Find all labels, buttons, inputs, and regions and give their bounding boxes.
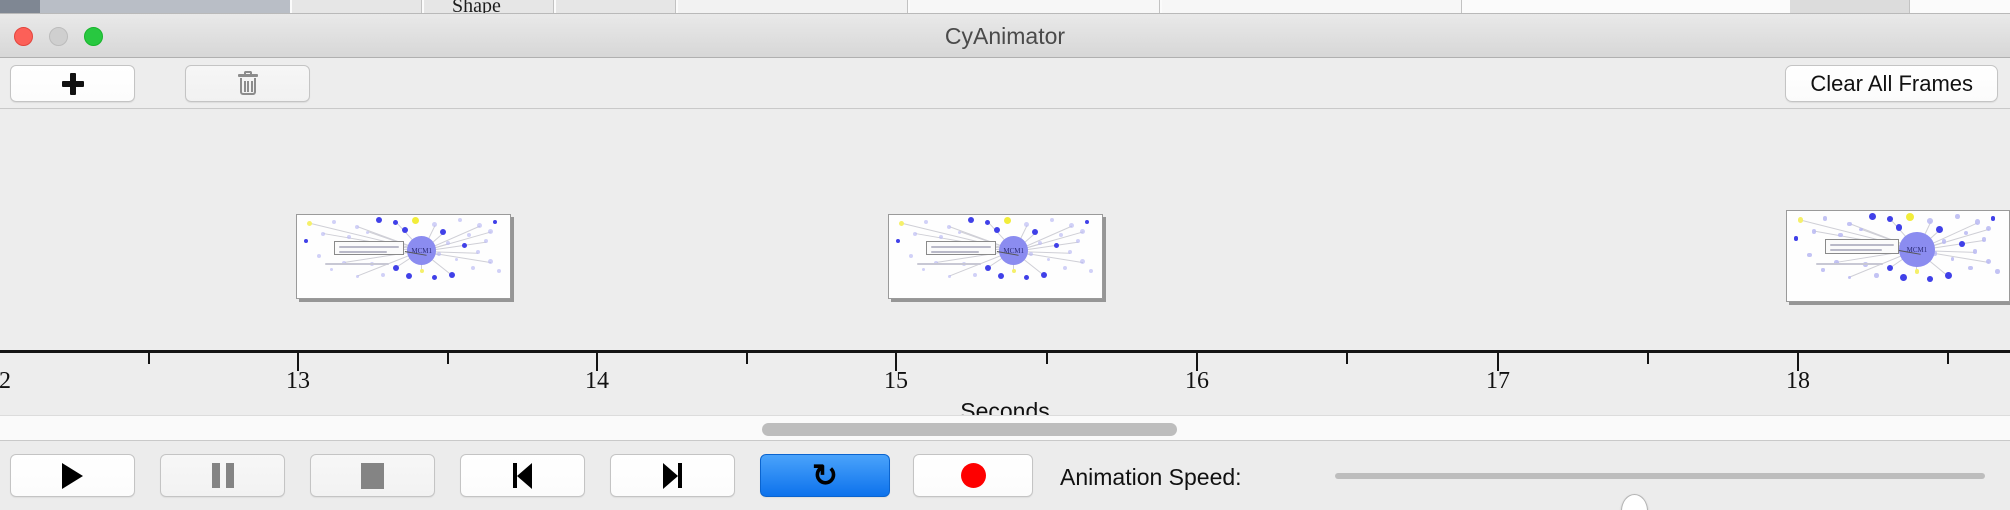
- network-node: [1089, 269, 1093, 273]
- delete-frame-button[interactable]: [185, 65, 310, 102]
- network-caption: [917, 263, 982, 265]
- timeline-tick-label: 13: [286, 368, 310, 395]
- network-node: [1959, 241, 1965, 247]
- network-node: [1032, 229, 1038, 235]
- network-node: [1004, 217, 1011, 224]
- network-node: [1012, 269, 1016, 273]
- network-node: [1906, 213, 1914, 221]
- network-node: [356, 275, 359, 278]
- network-node: [896, 239, 900, 243]
- network-node: [406, 273, 412, 279]
- loop-button[interactable]: ↻: [760, 454, 890, 497]
- network-node: [462, 243, 467, 248]
- horizontal-scrollbar[interactable]: [0, 415, 2010, 441]
- add-frame-button[interactable]: [10, 65, 135, 102]
- clear-all-frames-button[interactable]: Clear All Frames: [1785, 65, 1998, 102]
- network-node: [1995, 269, 2000, 274]
- timeline-tick-minor: [1947, 353, 1949, 364]
- network-node: [304, 239, 308, 243]
- network-node: [321, 232, 325, 236]
- network-node: [1945, 272, 1952, 279]
- title-bar: CyAnimator: [0, 14, 2010, 58]
- tooltip-text-line: [931, 251, 980, 253]
- network-node: [449, 272, 455, 278]
- network-node: [1975, 219, 1981, 225]
- network-node: [1887, 216, 1893, 222]
- skip-start-button[interactable]: [460, 454, 585, 497]
- network-preview: MCM1: [1787, 211, 2009, 301]
- timeline-axis: [0, 350, 2010, 353]
- network-node: [355, 225, 359, 229]
- network-node: [1982, 237, 1987, 242]
- timeline-tick-minor: [148, 353, 150, 364]
- network-node: [1848, 276, 1851, 279]
- network-preview: MCM1: [889, 215, 1102, 298]
- pause-icon: [212, 463, 234, 488]
- network-node: [412, 217, 419, 224]
- keyframe-thumbnail[interactable]: MCM1: [888, 214, 1103, 299]
- timeline-tick-minor: [1346, 353, 1348, 364]
- network-node: [1812, 229, 1817, 234]
- network-node: [1080, 259, 1085, 264]
- network-node: [1050, 218, 1054, 222]
- network-node: [1927, 276, 1933, 282]
- stop-icon: [361, 463, 384, 489]
- network-node: [1942, 239, 1947, 244]
- network-tooltip: [1825, 239, 1899, 255]
- pause-button[interactable]: [160, 454, 285, 497]
- network-node: [376, 217, 382, 223]
- plus-icon: [62, 73, 84, 95]
- timeline-panel[interactable]: MCM1MCM1MCM1 12131415161718 Seconds: [0, 110, 2010, 415]
- network-node: [973, 273, 977, 277]
- network-node: [1024, 275, 1029, 280]
- record-icon: [961, 463, 986, 488]
- network-node: [1807, 253, 1812, 258]
- keyframe-thumbnail[interactable]: MCM1: [296, 214, 511, 299]
- network-node: [1991, 216, 1996, 221]
- background-window-label: Shape: [452, 0, 501, 14]
- timeline-tick-minor: [746, 353, 748, 364]
- network-node: [1794, 236, 1799, 241]
- network-node: [1986, 226, 1992, 232]
- network-node: [1847, 222, 1852, 227]
- background-window-strip: Shape: [0, 0, 2010, 14]
- network-hub-node: MCM1: [999, 236, 1028, 265]
- network-node: [330, 268, 333, 271]
- network-node: [985, 265, 991, 271]
- network-node: [488, 259, 493, 264]
- timeline-tick-minor: [1647, 353, 1649, 364]
- network-node: [1085, 220, 1089, 224]
- network-node: [471, 266, 475, 270]
- background-cell: [910, 0, 1160, 14]
- network-caption: [1816, 263, 1883, 265]
- timeline-tick-label: 12: [0, 368, 11, 395]
- network-node: [1874, 273, 1879, 278]
- cyanimator-window: Shape CyAnimator Clear All Frames MCM1MC…: [0, 0, 2010, 510]
- network-node: [1968, 266, 1973, 271]
- network-node: [1821, 268, 1824, 271]
- network-node: [1951, 257, 1954, 260]
- background-cell: [1162, 0, 1462, 14]
- network-node: [1973, 249, 1978, 254]
- network-node: [381, 273, 385, 277]
- timeline-tick-minor: [447, 353, 449, 364]
- play-icon: [62, 463, 83, 489]
- network-node: [1955, 214, 1960, 219]
- network-node: [317, 254, 321, 258]
- background-toolbar-light: [40, 0, 290, 14]
- network-node: [1038, 241, 1042, 245]
- network-node: [1798, 217, 1804, 223]
- network-node: [1887, 265, 1894, 272]
- network-node: [1054, 243, 1059, 248]
- network-node: [948, 275, 951, 278]
- network-node: [913, 232, 917, 236]
- network-node: [1068, 250, 1072, 254]
- network-tooltip: [334, 241, 405, 255]
- timeline-tick-label: 16: [1185, 368, 1209, 395]
- network-node: [446, 241, 450, 245]
- record-button[interactable]: [913, 454, 1033, 497]
- network-node: [1823, 216, 1828, 221]
- network-node: [332, 220, 336, 224]
- play-button[interactable]: [10, 454, 135, 497]
- network-node: [440, 229, 446, 235]
- network-node: [1069, 223, 1074, 228]
- network-node: [947, 225, 951, 229]
- toolbar: Clear All Frames: [0, 58, 2010, 109]
- skip-back-icon: [513, 463, 532, 489]
- network-node: [455, 258, 458, 261]
- network-node: [922, 268, 925, 271]
- network-node: [1900, 274, 1907, 281]
- network-node: [939, 235, 943, 239]
- background-cell: [292, 0, 422, 14]
- timeline-tick-label: 17: [1486, 368, 1510, 395]
- network-node: [1047, 258, 1050, 261]
- network-node: [1986, 259, 1992, 265]
- network-node: [437, 252, 441, 256]
- background-cell: [678, 0, 908, 14]
- network-caption: [325, 263, 390, 265]
- timeline-tick-label: 18: [1786, 368, 1810, 395]
- network-node: [1936, 226, 1943, 233]
- skip-forward-icon: [663, 463, 682, 489]
- stop-button[interactable]: [310, 454, 435, 497]
- timeline-tick-label: 15: [884, 368, 908, 395]
- network-node: [994, 227, 1000, 233]
- network-node: [1869, 213, 1876, 220]
- network-node: [488, 229, 493, 234]
- network-node: [497, 269, 501, 273]
- background-toolbar-dark: [0, 0, 40, 14]
- network-hub-node: MCM1: [1899, 232, 1934, 267]
- network-node: [432, 275, 437, 280]
- keyframe-thumbnail[interactable]: MCM1: [1786, 210, 2010, 302]
- network-node: [476, 250, 480, 254]
- tooltip-text-line: [339, 246, 400, 248]
- network-node: [909, 254, 913, 258]
- network-preview: MCM1: [297, 215, 510, 298]
- network-node: [1041, 272, 1047, 278]
- network-node: [393, 265, 399, 271]
- network-node: [998, 273, 1004, 279]
- tooltip-text-line: [1830, 244, 1894, 246]
- page-title: CyAnimator: [0, 14, 2010, 58]
- animation-speed-label: Animation Speed:: [1060, 464, 1242, 491]
- trash-icon: [238, 72, 258, 96]
- timeline-tick-label: 14: [585, 368, 609, 395]
- tooltip-text-line: [931, 246, 992, 248]
- timeline-tick-minor: [1046, 353, 1048, 364]
- transport-bar: ↻ Animation Speed:: [0, 442, 2010, 510]
- network-node: [1915, 269, 1920, 274]
- network-node: [1024, 222, 1029, 227]
- background-cell: [1790, 0, 1910, 14]
- network-node: [1029, 252, 1033, 256]
- network-node: [493, 220, 497, 224]
- background-cell: [556, 0, 676, 14]
- network-node: [1859, 228, 1862, 231]
- network-node: [420, 269, 424, 273]
- animation-speed-slider[interactable]: [1335, 473, 1985, 479]
- animation-speed-slider-thumb[interactable]: [1621, 494, 1648, 510]
- network-hub-node: MCM1: [407, 236, 436, 265]
- network-node: [432, 222, 437, 227]
- network-node: [477, 223, 482, 228]
- tooltip-text-line: [1830, 249, 1882, 251]
- tooltip-text-line: [339, 251, 388, 253]
- scrollbar-thumb[interactable]: [762, 423, 1177, 436]
- network-node: [1080, 229, 1085, 234]
- network-node: [458, 218, 462, 222]
- network-node: [899, 221, 904, 226]
- axis-title: Seconds: [0, 398, 2010, 415]
- network-node: [402, 227, 408, 233]
- network-node: [347, 235, 351, 239]
- network-node: [484, 239, 488, 243]
- network-node: [968, 217, 974, 223]
- network-node: [924, 220, 928, 224]
- network-node: [1927, 218, 1933, 224]
- network-node: [1063, 266, 1067, 270]
- skip-end-button[interactable]: [610, 454, 735, 497]
- network-tooltip: [926, 241, 997, 255]
- network-node: [1076, 239, 1080, 243]
- network-node: [307, 221, 312, 226]
- loop-icon: ↻: [812, 460, 838, 491]
